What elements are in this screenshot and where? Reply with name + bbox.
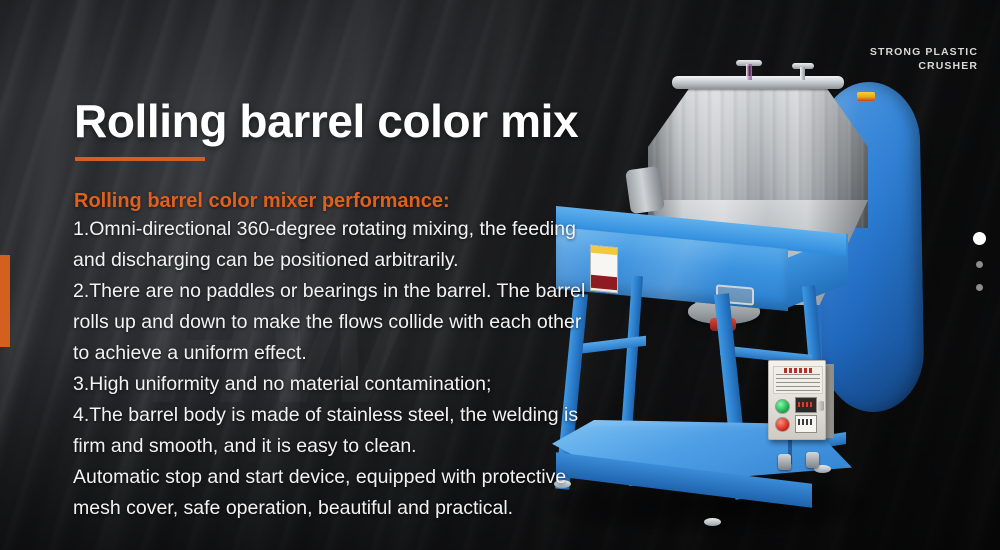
carousel-dot-2[interactable] bbox=[976, 261, 983, 268]
corner-category-label: STRONG PLASTIC CRUSHER bbox=[798, 45, 978, 73]
section-subtitle: Rolling barrel color mixer performance: bbox=[74, 190, 450, 213]
carousel-indicator[interactable] bbox=[973, 232, 986, 291]
feature-line: Automatic stop and start device, equippe… bbox=[73, 462, 533, 493]
page-title: Rolling barrel color mix bbox=[74, 94, 578, 148]
control-panel-meter bbox=[795, 415, 817, 433]
spec-plate-title bbox=[784, 368, 812, 373]
control-box-latch[interactable] bbox=[818, 401, 824, 411]
drum-lid-clamp-ring bbox=[672, 76, 844, 89]
corner-label-line-1: STRONG PLASTIC bbox=[798, 45, 978, 59]
green-start-button[interactable] bbox=[775, 399, 790, 414]
feature-line: 4.The barrel body is made of stainless s… bbox=[73, 400, 533, 431]
product-banner: HW bbox=[0, 0, 1000, 550]
corner-label-line-2: CRUSHER bbox=[798, 59, 978, 73]
guard-brand-sticker bbox=[857, 92, 875, 101]
machine-illustration bbox=[520, 50, 960, 500]
control-knob-left[interactable] bbox=[778, 454, 791, 470]
feature-line: rolls up and down to make the flows coll… bbox=[73, 307, 533, 338]
feature-line: to achieve a uniform effect. bbox=[73, 338, 533, 369]
feature-line: mesh cover, safe operation, beautiful an… bbox=[73, 493, 533, 524]
control-panel-box bbox=[768, 360, 826, 440]
base-foot-front bbox=[704, 518, 721, 526]
feature-line: 1.Omni-directional 360-degree rotating m… bbox=[73, 214, 533, 245]
warning-sticker-pictogram bbox=[591, 253, 617, 278]
drum-hinge-bracket bbox=[625, 166, 665, 214]
control-panel-display bbox=[795, 397, 817, 413]
spec-plate-text-rows bbox=[776, 374, 820, 391]
frame-leg-back-left bbox=[622, 276, 643, 426]
carousel-dot-1[interactable] bbox=[973, 232, 986, 245]
warning-sticker-footer bbox=[591, 275, 617, 291]
control-panel-spec-plate bbox=[773, 366, 823, 394]
red-stop-button[interactable] bbox=[775, 417, 790, 432]
feature-line: 2.There are no paddles or bearings in th… bbox=[73, 276, 533, 307]
feature-description: 1.Omni-directional 360-degree rotating m… bbox=[73, 214, 533, 524]
drum-valve-handle bbox=[736, 60, 762, 77]
carousel-dot-3[interactable] bbox=[976, 284, 983, 291]
feature-line: firm and smooth, and it is easy to clean… bbox=[73, 431, 533, 462]
left-accent-bar bbox=[0, 255, 10, 347]
title-underline-rule bbox=[75, 157, 205, 161]
safety-warning-sticker bbox=[590, 245, 618, 294]
feature-line: and discharging can be positioned arbitr… bbox=[73, 245, 533, 276]
feature-line: 3.High uniformity and no material contam… bbox=[73, 369, 533, 400]
control-knob-right[interactable] bbox=[806, 452, 819, 468]
